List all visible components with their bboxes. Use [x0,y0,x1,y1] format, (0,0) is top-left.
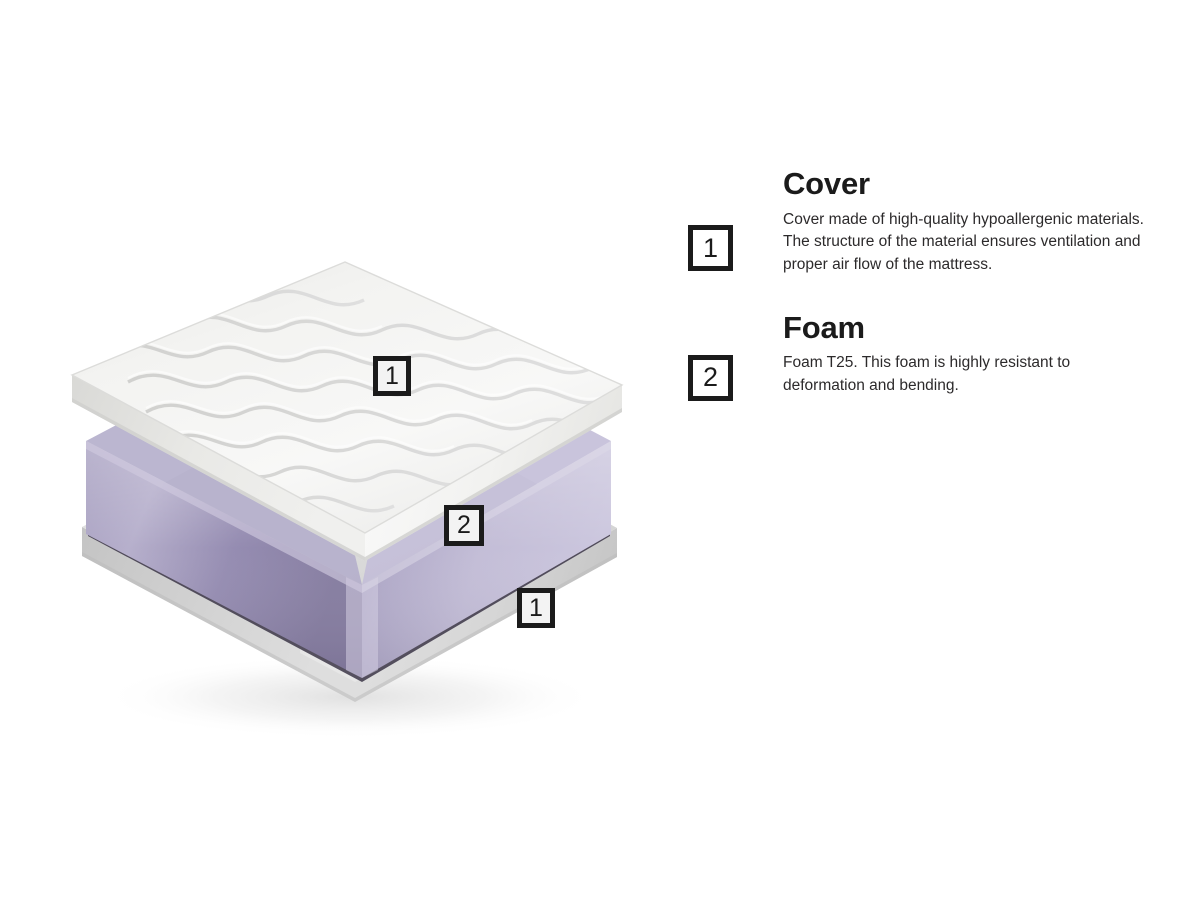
legend-badge-wrap-cover: 1 [688,168,783,271]
legend-description-foam: Foam T25. This foam is highly resistant … [783,352,1153,398]
exploded-mattress-illustration: 1 2 1 [0,0,700,899]
legend-title-foam: Foam [783,312,1158,345]
callout-badge-cover[interactable]: 1 [373,356,411,396]
legend-badge-1: 1 [688,225,733,271]
legend-item-cover: 1 Cover Cover made of high-quality hypoa… [688,168,1158,277]
legend-panel: 1 Cover Cover made of high-quality hypoa… [688,168,1158,434]
callout-badge-foam[interactable]: 2 [444,505,484,546]
legend-description-cover: Cover made of high-quality hypoallergeni… [783,209,1153,277]
diagram-page: 1 2 1 1 Cover Cover made of high-quality… [0,0,1200,899]
legend-body-foam: Foam Foam T25. This foam is highly resis… [783,310,1158,398]
legend-body-cover: Cover Cover made of high-quality hypoall… [783,168,1158,277]
legend-item-foam: 2 Foam Foam T25. This foam is highly res… [688,310,1158,401]
callout-badge-base[interactable]: 1 [517,588,555,628]
legend-title-cover: Cover [783,168,1158,201]
legend-badge-2: 2 [688,355,733,401]
legend-badge-wrap-foam: 2 [688,310,783,401]
